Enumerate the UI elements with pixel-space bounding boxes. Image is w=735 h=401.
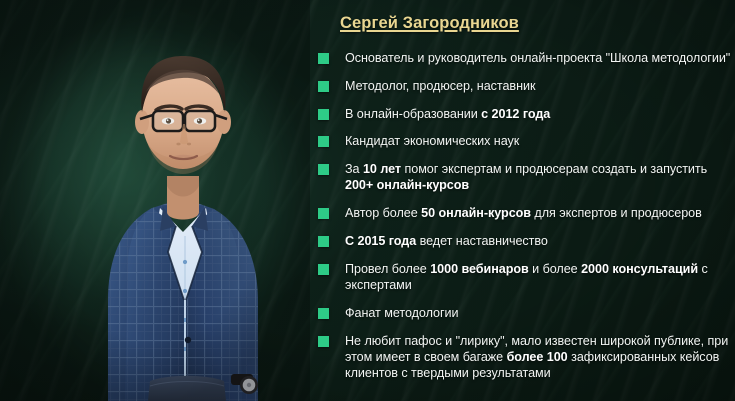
bullet-square-icon: [318, 264, 329, 275]
list-item-label: Автор более 50 онлайн-курсов для эксперт…: [345, 206, 702, 220]
plain-text: За: [345, 162, 363, 176]
emphasis-text: 50 онлайн-курсов: [421, 206, 531, 220]
plain-text: для экспертов и продюсеров: [531, 206, 702, 220]
list-item-label: За 10 лет помог экспертам и продюсерам с…: [345, 162, 707, 192]
bio-bullet-list: Основатель и руководитель онлайн-проекта…: [318, 50, 731, 382]
list-item-label: Провел более 1000 вебинаров и более 2000…: [345, 262, 708, 292]
emphasis-text: более 100: [507, 350, 568, 364]
list-item-label: Не любит пафос и "лирику", мало известен…: [345, 334, 728, 381]
list-item: Основатель и руководитель онлайн-проекта…: [318, 50, 731, 66]
plain-text: Методолог, продюсер, наставник: [345, 79, 535, 93]
list-item: За 10 лет помог экспертам и продюсерам с…: [318, 161, 731, 194]
plain-text: Автор более: [345, 206, 421, 220]
list-item: Методолог, продюсер, наставник: [318, 78, 731, 94]
plain-text: ведет наставничество: [416, 234, 548, 248]
list-item: Фанат методологии: [318, 305, 731, 321]
list-item-label: С 2015 года ведет наставничество: [345, 234, 548, 248]
page-title: Сергей Загородников: [340, 14, 731, 33]
bullet-square-icon: [318, 308, 329, 319]
plain-text: и более: [529, 262, 581, 276]
list-item-label: Основатель и руководитель онлайн-проекта…: [345, 51, 730, 65]
slide-root: Сергей Загородников Основатель и руковод…: [0, 0, 735, 401]
bio-content: Сергей Загородников Основатель и руковод…: [313, 0, 735, 401]
plain-text: Кандидат экономических наук: [345, 134, 519, 148]
bullet-square-icon: [318, 336, 329, 347]
list-item-label: В онлайн-образовании с 2012 года: [345, 107, 550, 121]
list-item: Автор более 50 онлайн-курсов для эксперт…: [318, 205, 731, 221]
list-item-label: Кандидат экономических наук: [345, 134, 519, 148]
plain-text: Основатель и руководитель онлайн-проекта…: [345, 51, 730, 65]
list-item-label: Фанат методологии: [345, 306, 459, 320]
emphasis-text: 10 лет: [363, 162, 401, 176]
list-item: Провел более 1000 вебинаров и более 2000…: [318, 261, 731, 294]
list-item: В онлайн-образовании с 2012 года: [318, 106, 731, 122]
list-item-label: Методолог, продюсер, наставник: [345, 79, 535, 93]
bullet-square-icon: [318, 164, 329, 175]
emphasis-text: 1000 вебинаров: [430, 262, 529, 276]
plain-text: В онлайн-образовании: [345, 107, 481, 121]
plain-text: Фанат методологии: [345, 306, 459, 320]
bullet-square-icon: [318, 136, 329, 147]
bullet-square-icon: [318, 236, 329, 247]
bullet-square-icon: [318, 53, 329, 64]
emphasis-text: с 2012 года: [481, 107, 550, 121]
list-item: Не любит пафос и "лирику", мало известен…: [318, 333, 731, 382]
plain-text: Провел более: [345, 262, 430, 276]
bullet-square-icon: [318, 208, 329, 219]
portrait-photo: [0, 0, 310, 401]
bullet-square-icon: [318, 109, 329, 120]
emphasis-text: С 2015 года: [345, 234, 416, 248]
list-item: С 2015 года ведет наставничество: [318, 233, 731, 249]
emphasis-text: 2000 консультаций: [581, 262, 698, 276]
bullet-square-icon: [318, 81, 329, 92]
list-item: Кандидат экономических наук: [318, 133, 731, 149]
plain-text: помог экспертам и продюсерам создать и з…: [401, 162, 707, 176]
emphasis-text: 200+ онлайн-курсов: [345, 178, 469, 192]
